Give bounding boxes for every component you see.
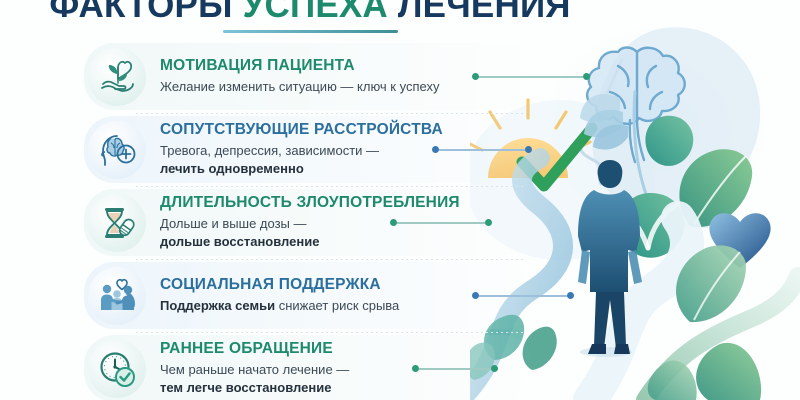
factor-row-duration[interactable]: ДЛИТЕЛЬНОСТЬ ЗЛОУПОТРЕБЛЕНИЯ Дольше и вы… [84, 186, 514, 259]
connector-dot-left [412, 365, 419, 372]
connector-dot-left [472, 73, 479, 80]
row-separator [136, 186, 524, 187]
row-separator [136, 259, 524, 260]
factor-row-comorbidities[interactable]: СОПУТСТВУЮЩИЕ РАССТРОЙСТВА Тревога, депр… [84, 113, 514, 186]
factor-title: МОТИВАЦИЯ ПАЦИЕНТА [160, 57, 439, 75]
factor-row-motivation[interactable]: МОТИВАЦИЯ ПАЦИЕНТА Желание изменить ситу… [84, 40, 514, 113]
page-title: ФАКТОРЫ УСПЕХА ЛЕЧЕНИЯ [0, 0, 620, 26]
infographic-page: ФАКТОРЫ УСПЕХА ЛЕЧЕНИЯ [0, 0, 800, 400]
hourglass-pill-icon [88, 194, 146, 252]
subtitle-line-1: Чем раньше начато лечение — [160, 362, 349, 377]
subtitle-line-2: тем легче восстановление [160, 380, 331, 395]
row-connector [432, 146, 532, 153]
family-heart-icon [88, 267, 146, 325]
connector-dot-left [472, 292, 479, 299]
factor-title: ДЛИТЕЛЬНОСТЬ ЗЛОУПОТРЕБЛЕНИЯ [160, 194, 460, 212]
subtitle-line-1: Дольше и выше дозы — [160, 216, 307, 231]
connector-dot-left [390, 219, 397, 226]
title-word-1: ФАКТОРЫ [49, 0, 232, 25]
connector-bar [439, 149, 525, 151]
title-underline [223, 30, 398, 33]
factors-list: МОТИВАЦИЯ ПАЦИЕНТА Желание изменить ситу… [84, 40, 514, 400]
row-connector [472, 292, 574, 299]
title-word-3: ЛЕЧЕНИЯ [398, 0, 571, 25]
subtitle-line-2: лечить одновременно [160, 161, 304, 176]
connector-bar [397, 222, 485, 224]
row-connector [390, 219, 492, 226]
clock-check-icon [88, 340, 146, 398]
factor-text: СОПУТСТВУЮЩИЕ РАССТРОЙСТВА Тревога, депр… [160, 121, 443, 178]
row-separator [136, 332, 524, 333]
factor-title: СОПУТСТВУЮЩИЕ РАССТРОЙСТВА [160, 121, 443, 139]
connector-dot-right [491, 365, 498, 372]
subtitle-line-2: дольше восстановление [160, 234, 319, 249]
factor-row-early-treatment[interactable]: РАННЕЕ ОБРАЩЕНИЕ Чем раньше начато лечен… [84, 332, 514, 400]
factor-text: РАННЕЕ ОБРАЩЕНИЕ Чем раньше начато лечен… [160, 340, 349, 397]
row-connector [412, 365, 498, 372]
head-brain-plus-icon [88, 121, 146, 179]
row-connector [472, 73, 590, 80]
factor-text: МОТИВАЦИЯ ПАЦИЕНТА Желание изменить ситу… [160, 57, 439, 96]
title-word-2: УСПЕХА [243, 0, 388, 25]
connector-bar [479, 76, 583, 78]
connector-dot-right [567, 292, 574, 299]
hand-holding-plant-heart-icon [88, 48, 146, 106]
subtitle-rest: снижает риск срыва [275, 298, 399, 313]
connector-dot-right [485, 219, 492, 226]
row-separator [136, 113, 524, 114]
connector-dot-right [583, 73, 590, 80]
title-block: ФАКТОРЫ УСПЕХА ЛЕЧЕНИЯ [0, 0, 620, 33]
factor-title: СОЦИАЛЬНАЯ ПОДДЕРЖКА [160, 276, 399, 294]
factor-subtitle: Чем раньше начато лечение — тем легче во… [160, 361, 349, 397]
factor-text: СОЦИАЛЬНАЯ ПОДДЕРЖКА Поддержка семьи сни… [160, 276, 399, 315]
connector-dot-left [432, 146, 439, 153]
subtitle-line-1: Тревога, депрессия, зависимости — [160, 143, 379, 158]
factor-subtitle: Желание изменить ситуацию — ключ к успех… [160, 78, 439, 96]
factor-row-social-support[interactable]: СОЦИАЛЬНАЯ ПОДДЕРЖКА Поддержка семьи сни… [84, 259, 514, 332]
factor-subtitle: Тревога, депрессия, зависимости — лечить… [160, 142, 443, 178]
subtitle-bold-lead: Поддержка семьи [160, 298, 275, 313]
factor-subtitle: Поддержка семьи снижает риск срыва [160, 297, 399, 315]
connector-dot-right [525, 146, 532, 153]
factor-title: РАННЕЕ ОБРАЩЕНИЕ [160, 340, 349, 358]
connector-bar [419, 368, 491, 370]
connector-bar [479, 295, 567, 297]
